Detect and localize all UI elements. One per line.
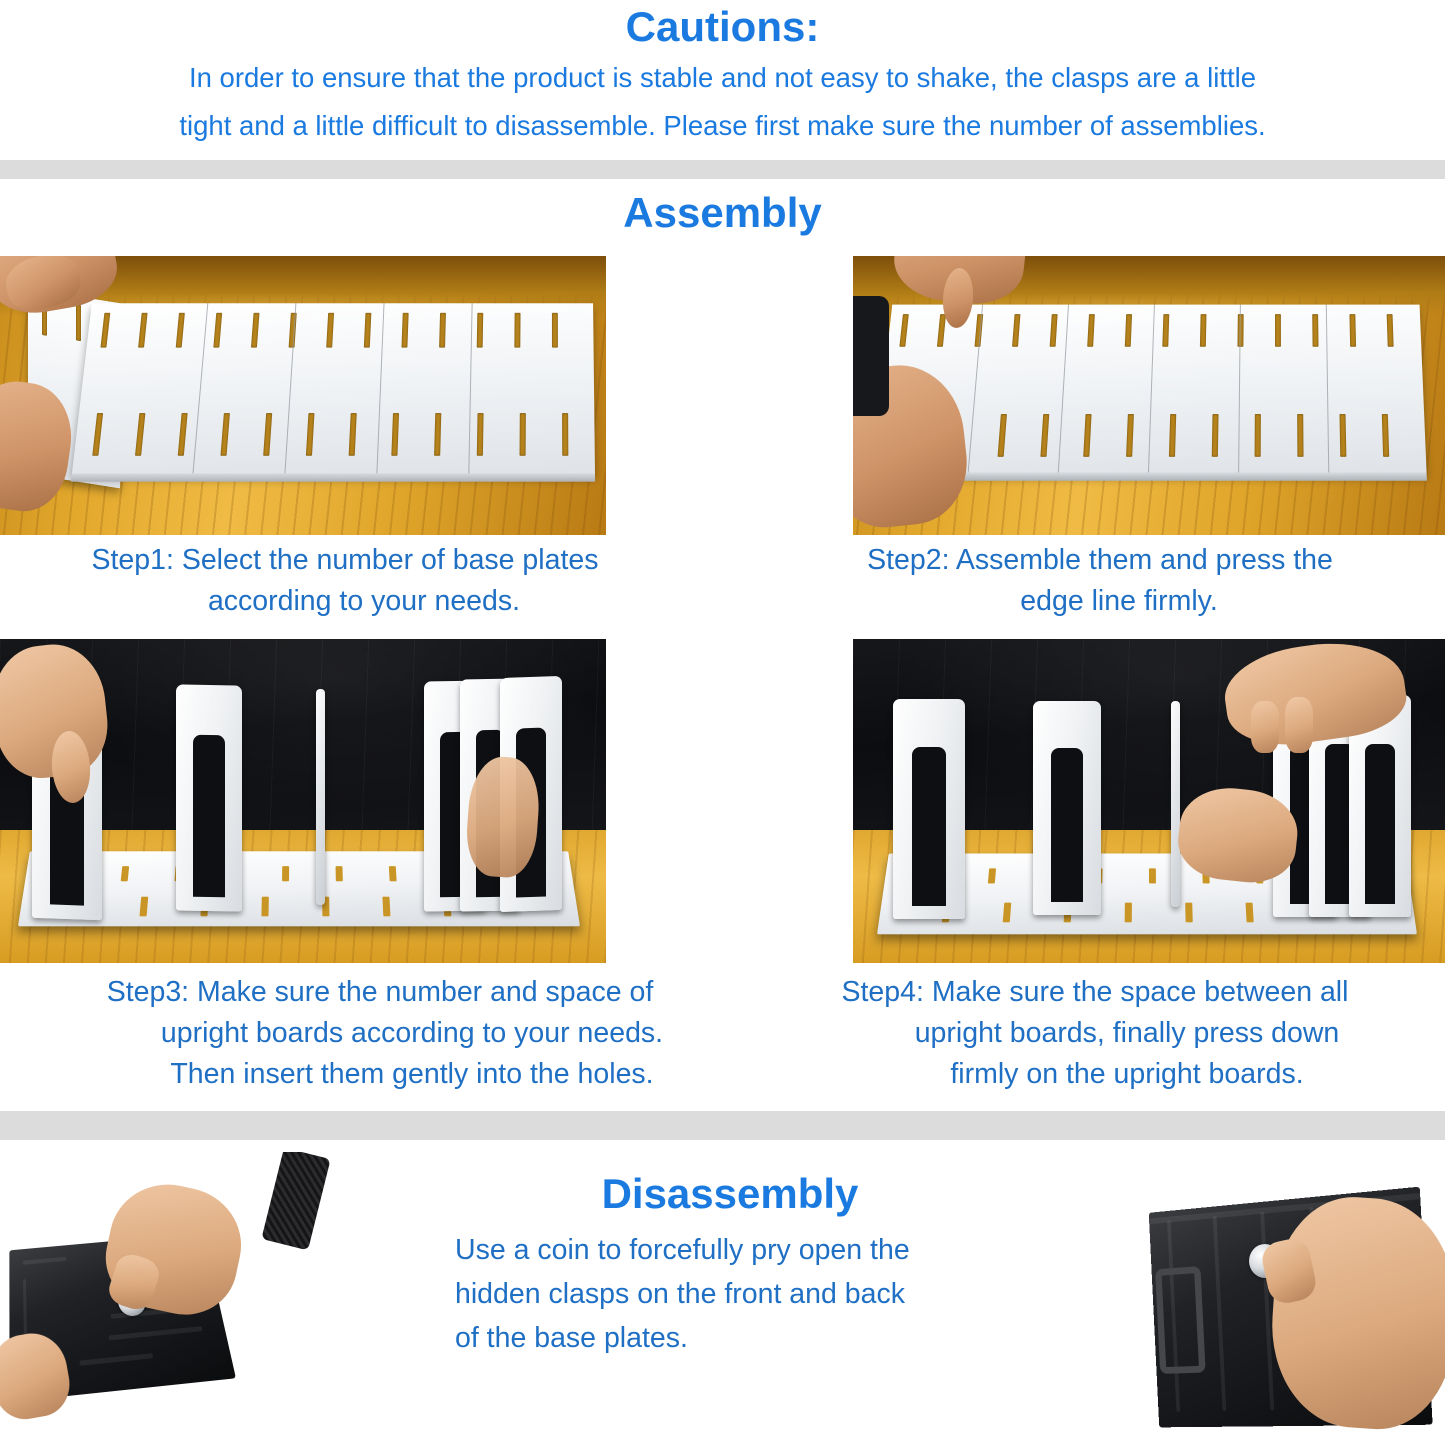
step-1-caption: Step1: Select the number of base plates …: [0, 540, 690, 622]
instruction-infographic: Cautions: In order to ensure that the pr…: [0, 0, 1445, 1431]
disassembly-line-3: of the base plates.: [455, 1316, 1075, 1360]
step-3-caption-line-1: Step3: Make sure the number and space of: [0, 972, 760, 1013]
disassembly-line-1: Use a coin to forcefully pry open the: [455, 1228, 1075, 1272]
step-3-caption: Step3: Make sure the number and space of…: [0, 972, 760, 1095]
step-3-photo: [0, 639, 606, 963]
sleeve-cuff: [261, 1152, 330, 1250]
cautions-line-2: tight and a little difficult to disassem…: [22, 102, 1423, 150]
step-4-caption: Step4: Make sure the space between all u…: [745, 972, 1445, 1095]
base-plate-assembly: [72, 303, 595, 474]
step-1-caption-line-1: Step1: Select the number of base plates: [0, 540, 690, 581]
section-divider-top: [0, 160, 1445, 179]
section-divider-bottom: [0, 1111, 1445, 1140]
cautions-title: Cautions:: [0, 0, 1445, 52]
disassembly-line-2: hidden clasps on the front and back: [455, 1272, 1075, 1316]
assembly-heading: Assembly: [0, 188, 1445, 238]
disassembly-heading: Disassembly: [400, 1168, 1060, 1220]
step-2-caption-line-2: edge line firmly.: [755, 581, 1445, 622]
step-4-photo: [853, 639, 1445, 963]
disassembly-photo-left: [0, 1152, 380, 1431]
upright-board-edge: [1171, 701, 1180, 907]
cautions-line-1: In order to ensure that the product is s…: [22, 54, 1423, 102]
upright-board: [1033, 701, 1101, 915]
disassembly-body: Use a coin to forcefully pry open the hi…: [455, 1228, 1075, 1360]
step-3-caption-line-3: Then insert them gently into the holes.: [0, 1054, 760, 1095]
step-1-caption-line-2: according to your needs.: [0, 581, 690, 622]
step-3-caption-line-2: upright boards according to your needs.: [0, 1013, 760, 1054]
finger: [1285, 697, 1313, 753]
finger: [1251, 701, 1279, 753]
step-2-photo: [853, 256, 1445, 535]
cautions-section: Cautions: In order to ensure that the pr…: [0, 0, 1445, 160]
cautions-body: In order to ensure that the product is s…: [0, 52, 1445, 150]
step-1-photo: [0, 256, 606, 535]
step-4-caption-line-2: upright boards, finally press down: [745, 1013, 1445, 1054]
step-4-caption-line-1: Step4: Make sure the space between all: [745, 972, 1445, 1013]
disassembly-photo-right: [1125, 1170, 1445, 1431]
step-2-caption: Step2: Assemble them and press the edge …: [755, 540, 1445, 622]
upright-board-edge: [316, 689, 325, 905]
step-2-caption-line-1: Step2: Assemble them and press the: [755, 540, 1445, 581]
plate-handle-cutout: [1155, 1266, 1206, 1374]
sleeve: [853, 296, 889, 416]
step-4-caption-line-3: firmly on the upright boards.: [745, 1054, 1445, 1095]
upright-board: [176, 684, 242, 911]
upright-board: [893, 699, 965, 919]
